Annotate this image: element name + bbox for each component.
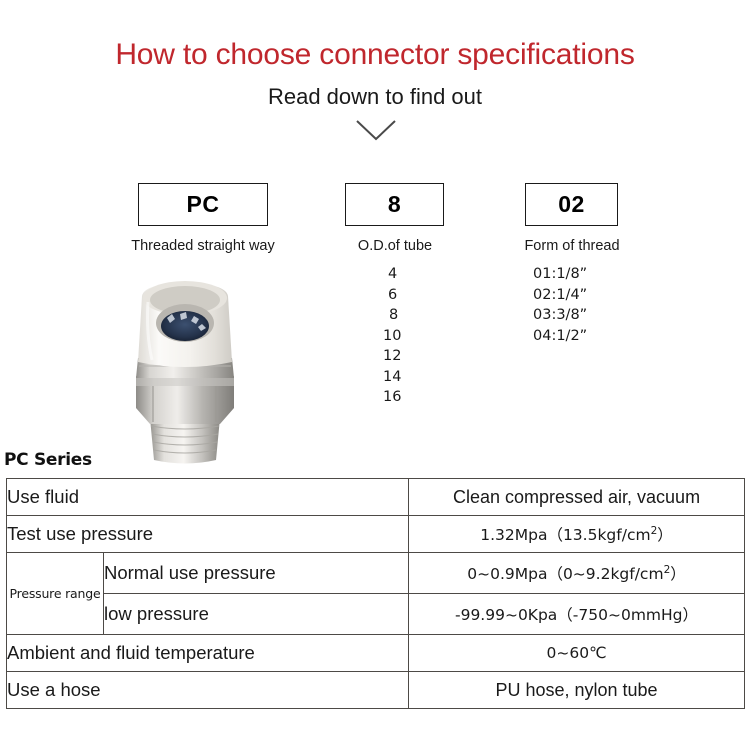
od-option: 8 — [383, 305, 443, 326]
spec-value: 0~0.9Mpa（0~9.2kgf/cm2） — [409, 553, 745, 594]
chevron-down-icon — [355, 118, 397, 144]
thread-option: 04:1/2” — [533, 326, 653, 347]
code-label-od: O.D.of tube — [335, 238, 455, 254]
table-row: Test use pressure 1.32Mpa（13.5kgf/cm2） — [7, 516, 745, 553]
od-option: 14 — [383, 367, 443, 388]
code-box-series: PC — [138, 183, 268, 226]
code-box-od: 8 — [345, 183, 444, 226]
spec-sublabel: Normal use pressure — [104, 553, 409, 594]
spec-label: Use a hose — [7, 672, 409, 709]
spec-value: Clean compressed air, vacuum — [409, 479, 745, 516]
thread-option-list: 01:1/8” 02:1/4” 03:3/8” 04:1/2” — [533, 264, 653, 346]
code-box-thread: 02 — [525, 183, 618, 226]
table-row: Ambient and fluid temperature 0~60℃ — [7, 635, 745, 672]
table-row: low pressure -99.99~0Kpa（-750~0mmHg） — [7, 594, 745, 635]
od-option: 10 — [383, 326, 443, 347]
product-photo-pneumatic-fitting — [112, 268, 258, 466]
page-title: How to choose connector specifications — [0, 38, 750, 72]
thread-option: 01:1/8” — [533, 264, 653, 285]
page-subtitle: Read down to find out — [0, 84, 750, 110]
spec-sublabel: low pressure — [104, 594, 409, 635]
od-option: 6 — [383, 285, 443, 306]
table-row: Use a hose PU hose, nylon tube — [7, 672, 745, 709]
table-row: Use fluid Clean compressed air, vacuum — [7, 479, 745, 516]
thread-option: 02:1/4” — [533, 285, 653, 306]
code-label-thread: Form of thread — [505, 238, 639, 254]
spec-value: 1.32Mpa（13.5kgf/cm2） — [409, 516, 745, 553]
spec-value: PU hose, nylon tube — [409, 672, 745, 709]
od-option-list: 4 6 8 10 12 14 16 — [383, 264, 443, 408]
code-label-series: Threaded straight way — [118, 238, 288, 254]
od-option: 16 — [383, 387, 443, 408]
table-row: Pressure range Normal use pressure 0~0.9… — [7, 553, 745, 594]
spec-value: 0~60℃ — [409, 635, 745, 672]
spec-label-merged: Pressure range — [7, 553, 104, 635]
spec-label: Test use pressure — [7, 516, 409, 553]
spec-label: Use fluid — [7, 479, 409, 516]
spec-label: Ambient and fluid temperature — [7, 635, 409, 672]
thread-option: 03:3/8” — [533, 305, 653, 326]
series-heading: PC Series — [4, 450, 92, 470]
spec-value: -99.99~0Kpa（-750~0mmHg） — [409, 594, 745, 635]
specification-table: Use fluid Clean compressed air, vacuum T… — [6, 478, 745, 709]
od-option: 12 — [383, 346, 443, 367]
od-option: 4 — [383, 264, 443, 285]
